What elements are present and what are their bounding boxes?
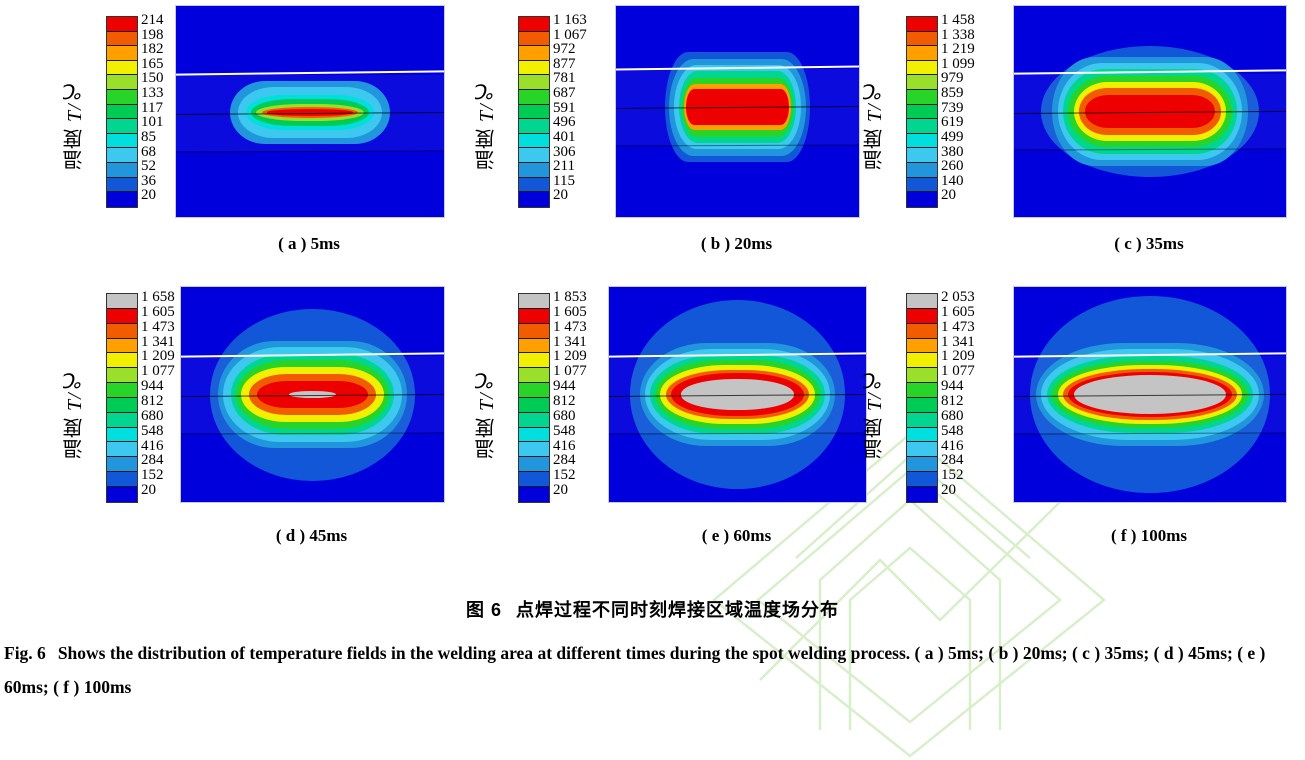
colorbar-f [906, 293, 938, 503]
colorbar-swatch [519, 487, 549, 502]
colorbar-swatch [907, 294, 937, 309]
contour-plot-a [175, 5, 445, 218]
colorbar-e [518, 293, 550, 503]
colorbar-tick-label: 680 [553, 409, 576, 424]
contour-plot-b [615, 5, 860, 218]
colorbar-tick-label: 1 341 [941, 335, 975, 350]
caption-english: Fig. 6Shows the distribution of temperat… [0, 636, 1305, 704]
colorbar-tick-label: 20 [553, 188, 568, 203]
colorbar-swatch [107, 398, 137, 413]
colorbar-swatch [107, 163, 137, 178]
colorbar-swatch [907, 413, 937, 428]
colorbar-tick-label: 1 077 [141, 364, 175, 379]
axis-title-cn-b: 温度 [476, 128, 498, 170]
colorbar-tick-label: 680 [141, 409, 164, 424]
axis-title-unit-e: T/℃ [476, 368, 498, 412]
colorbar-swatch [519, 192, 549, 207]
colorbar-swatch [107, 368, 137, 383]
subcaption-f: ( f ) 100ms [1013, 526, 1285, 546]
colorbar-swatch [907, 75, 937, 90]
colorbar-swatch [519, 46, 549, 61]
caption-cn-number: 图 6 [466, 600, 502, 620]
colorbar-tick-label: 20 [941, 188, 956, 203]
caption-en-title: Shows the distribution of temperature fi… [4, 643, 1265, 697]
colorbar-tick-label: 548 [553, 424, 576, 439]
colorbar-swatch [519, 75, 549, 90]
colorbar-tick-label: 812 [941, 394, 964, 409]
colorbar-swatch [907, 309, 937, 324]
colorbar-tick-label: 1 458 [941, 13, 975, 28]
colorbar-tick-label: 680 [941, 409, 964, 424]
colorbar-swatch [907, 32, 937, 47]
colorbar-swatch [907, 61, 937, 76]
axis-title-unit-b: T/℃ [476, 78, 498, 122]
colorbar-tick-label: 548 [941, 424, 964, 439]
colorbar-swatch [907, 428, 937, 443]
colorbar-tick-label: 85 [141, 130, 156, 145]
colorbar-swatch [907, 105, 937, 120]
colorbar-tick-label: 152 [941, 468, 964, 483]
colorbar-tick-label: 1 853 [553, 290, 587, 305]
colorbar-swatch [907, 178, 937, 193]
colorbar-swatch [907, 192, 937, 207]
colorbar-tick-label: 284 [941, 453, 964, 468]
colorbar-tick-label: 687 [553, 86, 576, 101]
contour-plot-c [1013, 5, 1287, 218]
colorbar-swatch [107, 339, 137, 354]
colorbar-swatch [907, 163, 937, 178]
colorbar-tick-label: 548 [141, 424, 164, 439]
colorbar-swatch [907, 148, 937, 163]
colorbar-swatch [107, 17, 137, 32]
colorbar-tick-label: 1 473 [553, 320, 587, 335]
colorbar-tick-label: 1 605 [141, 305, 175, 320]
colorbar-swatch [107, 178, 137, 193]
caption-chinese: 图 6点焊过程不同时刻焊接区域温度场分布 [0, 596, 1305, 622]
colorbar-c [906, 16, 938, 208]
colorbar-tick-label: 1 209 [941, 349, 975, 364]
colorbar-swatch [107, 192, 137, 207]
colorbar-swatch [519, 339, 549, 354]
axis-title-cn-e: 温度 [476, 417, 498, 459]
colorbar-tick-label: 20 [941, 483, 956, 498]
colorbar-swatch [107, 90, 137, 105]
colorbar-swatch [107, 487, 137, 502]
colorbar-swatch [107, 148, 137, 163]
colorbar-tick-label: 1 209 [141, 349, 175, 364]
colorbar-tick-label: 260 [941, 159, 964, 174]
colorbar-swatch [519, 17, 549, 32]
subcaption-e: ( e ) 60ms [608, 526, 865, 546]
colorbar-tick-label: 133 [141, 86, 164, 101]
colorbar-tick-label: 1 219 [941, 42, 975, 57]
colorbar-swatch [519, 353, 549, 368]
colorbar-tick-label: 2 053 [941, 290, 975, 305]
colorbar-swatch [907, 442, 937, 457]
colorbar-tick-label: 1 341 [141, 335, 175, 350]
colorbar-b [518, 16, 550, 208]
colorbar-tick-label: 1 473 [141, 320, 175, 335]
colorbar-a [106, 16, 138, 208]
colorbar-swatch [907, 134, 937, 149]
axis-title-d: 温度 T/℃ [60, 326, 84, 501]
colorbar-swatch [907, 339, 937, 354]
subcaption-c: ( c ) 35ms [1013, 234, 1285, 254]
colorbar-swatch [107, 32, 137, 47]
axis-title-e: 温度 T/℃ [472, 326, 496, 501]
colorbar-tick-label: 1 077 [941, 364, 975, 379]
colorbar-tick-label: 812 [141, 394, 164, 409]
subcaption-a: ( a ) 5ms [175, 234, 443, 254]
colorbar-tick-label: 20 [141, 188, 156, 203]
contour-plot-e [608, 286, 867, 503]
axis-title-c: 温度 T/℃ [860, 40, 884, 208]
colorbar-tick-label: 499 [941, 130, 964, 145]
colorbar-swatch [519, 368, 549, 383]
axis-title-f: 温度 T/℃ [860, 326, 884, 501]
colorbar-swatch [907, 119, 937, 134]
colorbar-swatch [907, 487, 937, 502]
axis-title-cn-c: 温度 [864, 128, 886, 170]
colorbar-swatch [519, 178, 549, 193]
colorbar-tick-label: 152 [553, 468, 576, 483]
colorbar-swatch [519, 163, 549, 178]
colorbar-tick-label: 1 658 [141, 290, 175, 305]
panel-row-top: 温度 T/℃ 214198182165150133117101856852362… [0, 0, 1305, 275]
colorbar-swatch [907, 353, 937, 368]
colorbar-swatch [519, 148, 549, 163]
colorbar-tick-label: 1 077 [553, 364, 587, 379]
colorbar-swatch [519, 105, 549, 120]
colorbar-tick-label: 52 [141, 159, 156, 174]
colorbar-labels-f: 2 0531 6051 4731 3411 2091 0779448126805… [941, 293, 1013, 501]
figure-caption-block: 图 6点焊过程不同时刻焊接区域温度场分布 Fig. 6Shows the dis… [0, 596, 1305, 704]
contour-plot-f [1013, 286, 1287, 503]
colorbar-swatch [907, 17, 937, 32]
colorbar-tick-label: 20 [553, 483, 568, 498]
colorbar-tick-label: 416 [941, 439, 964, 454]
colorbar-swatch [907, 368, 937, 383]
axis-title-unit-f: T/℃ [864, 368, 886, 412]
axis-title-cn-f: 温度 [864, 417, 886, 459]
colorbar-labels-b: 1 1631 067972877781687591496401306211115… [553, 16, 623, 206]
colorbar-swatch [107, 324, 137, 339]
colorbar-swatch [107, 46, 137, 61]
colorbar-tick-label: 401 [553, 130, 576, 145]
colorbar-tick-label: 1 605 [941, 305, 975, 320]
colorbar-tick-label: 152 [141, 468, 164, 483]
colorbar-tick-label: 972 [553, 42, 576, 57]
colorbar-swatch [907, 457, 937, 472]
colorbar-swatch [107, 61, 137, 76]
subcaption-d: ( d ) 45ms [180, 526, 443, 546]
colorbar-swatch [519, 61, 549, 76]
colorbar-tick-label: 1 209 [553, 349, 587, 364]
colorbar-tick-label: 416 [553, 439, 576, 454]
axis-title-unit-d: T/℃ [64, 368, 86, 412]
colorbar-swatch [907, 383, 937, 398]
colorbar-swatch [107, 75, 137, 90]
colorbar-swatch [907, 398, 937, 413]
panel-row-bottom: 温度 T/℃ 1 6581 6051 4731 3411 2091 077944… [0, 278, 1305, 568]
colorbar-d [106, 293, 138, 503]
colorbar-swatch [519, 428, 549, 443]
colorbar-swatch [519, 294, 549, 309]
axis-title-unit-a: T/℃ [64, 78, 86, 122]
colorbar-swatch [107, 105, 137, 120]
colorbar-tick-label: 1 341 [553, 335, 587, 350]
colorbar-swatch [519, 442, 549, 457]
colorbar-tick-label: 284 [141, 453, 164, 468]
colorbar-swatch [519, 457, 549, 472]
colorbar-tick-label: 944 [141, 379, 164, 394]
colorbar-swatch [519, 383, 549, 398]
colorbar-tick-label: 1 163 [553, 13, 587, 28]
colorbar-swatch [519, 398, 549, 413]
colorbar-swatch [519, 119, 549, 134]
colorbar-tick-label: 416 [141, 439, 164, 454]
colorbar-swatch [519, 134, 549, 149]
colorbar-swatch [907, 324, 937, 339]
colorbar-swatch [519, 472, 549, 487]
colorbar-swatch [907, 46, 937, 61]
colorbar-swatch [107, 442, 137, 457]
colorbar-swatch [519, 309, 549, 324]
colorbar-tick-label: 1 605 [553, 305, 587, 320]
colorbar-swatch [107, 428, 137, 443]
colorbar-tick-label: 284 [553, 453, 576, 468]
caption-cn-title: 点焊过程不同时刻焊接区域温度场分布 [516, 600, 839, 620]
colorbar-swatch [107, 353, 137, 368]
colorbar-swatch [519, 32, 549, 47]
colorbar-tick-label: 20 [141, 483, 156, 498]
axis-title-a: 温度 T/℃ [60, 40, 84, 208]
colorbar-tick-label: 944 [553, 379, 576, 394]
colorbar-swatch [907, 472, 937, 487]
colorbar-swatch [107, 457, 137, 472]
colorbar-swatch [907, 90, 937, 105]
colorbar-swatch [519, 324, 549, 339]
colorbar-swatch [107, 134, 137, 149]
colorbar-swatch [107, 383, 137, 398]
axis-title-cn-d: 温度 [64, 417, 86, 459]
colorbar-tick-label: 211 [553, 159, 575, 174]
colorbar-swatch [519, 413, 549, 428]
colorbar-swatch [107, 309, 137, 324]
colorbar-labels-c: 1 4581 3381 2191 09997985973961949938026… [941, 16, 1011, 206]
figure-panel-grid: 温度 T/℃ 214198182165150133117101856852362… [0, 0, 1305, 600]
colorbar-swatch [107, 294, 137, 309]
colorbar-swatch [107, 472, 137, 487]
colorbar-swatch [519, 90, 549, 105]
colorbar-swatch [107, 413, 137, 428]
colorbar-tick-label: 182 [141, 42, 164, 57]
colorbar-tick-label: 1 473 [941, 320, 975, 335]
colorbar-swatch [107, 119, 137, 134]
colorbar-tick-label: 859 [941, 86, 964, 101]
axis-title-b: 温度 T/℃ [472, 40, 496, 208]
colorbar-tick-label: 214 [141, 13, 164, 28]
contour-plot-d [180, 286, 445, 503]
subcaption-b: ( b ) 20ms [615, 234, 858, 254]
caption-en-number: Fig. 6 [4, 643, 46, 663]
axis-title-cn-a: 温度 [64, 128, 86, 170]
colorbar-tick-label: 812 [553, 394, 576, 409]
colorbar-tick-label: 944 [941, 379, 964, 394]
axis-title-unit-c: T/℃ [864, 78, 886, 122]
